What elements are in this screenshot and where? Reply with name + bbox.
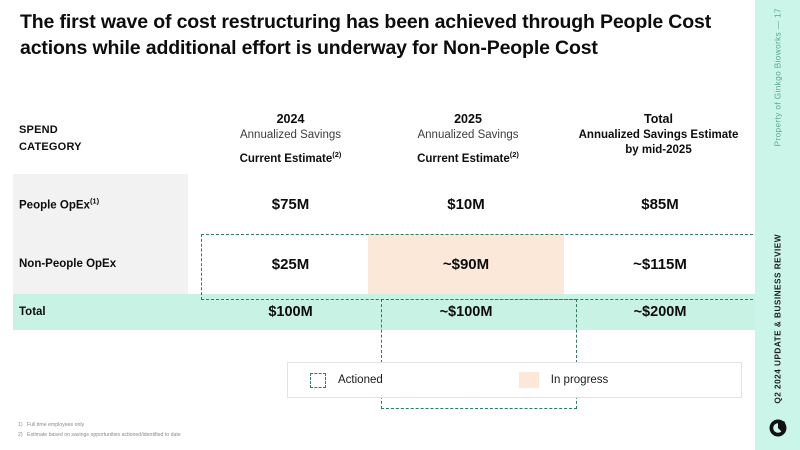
- footnote-marker-1: (1): [90, 197, 99, 206]
- cell-people-opex-2024: $75M: [188, 174, 393, 234]
- column-header-2025: 2025 Annualized Savings Current Estimate…: [368, 112, 568, 165]
- spend-category-line2: CATEGORY: [19, 139, 82, 156]
- savings-table: SPEND CATEGORY 2024 Annualized Savings C…: [13, 112, 744, 330]
- page-title: The first wave of cost restructuring has…: [20, 10, 720, 62]
- ginkgo-logo-icon: [768, 418, 788, 438]
- cell-total-total: ~$200M: [564, 294, 756, 330]
- footnote-marker-2: (2): [332, 150, 341, 159]
- cell-total-2025: ~$100M: [368, 294, 564, 330]
- column-header-2024-subtitle: Annualized Savings: [188, 129, 393, 141]
- column-header-total-estimate: by mid-2025: [561, 144, 756, 156]
- footnote-1: 1) Full time employees only: [18, 421, 181, 431]
- table-header-row: SPEND CATEGORY 2024 Annualized Savings C…: [13, 112, 744, 174]
- cell-non-people-opex-2025: ~$90M: [368, 234, 564, 294]
- row-category-label-non-people-opex: Non-People OpEx: [19, 258, 116, 270]
- table-row: Non-People OpEx $25M ~$90M ~$115M: [13, 234, 744, 294]
- table-row-total: Total $100M ~$100M ~$200M: [13, 294, 744, 330]
- footnote-2: 2) Estimate based on savings opportuniti…: [18, 431, 181, 441]
- right-sidebar: Property of Ginkgo Bioworks — 17 Q2 2024…: [755, 0, 800, 450]
- sidebar-property-text: Property of Ginkgo Bioworks — 17: [773, 8, 782, 146]
- table-body: People OpEx(1) $75M $10M $85M Non-People…: [13, 174, 744, 330]
- legend-item-in-progress: In progress: [519, 372, 609, 388]
- column-header-2025-subtitle: Annualized Savings: [368, 129, 568, 141]
- legend-label-in-progress: In progress: [551, 374, 609, 386]
- peach-swatch-icon: [519, 372, 539, 388]
- column-header-total-label: Total: [561, 112, 756, 126]
- footnote-1-text: Full time employees only: [27, 421, 84, 431]
- cell-non-people-opex-total: ~$115M: [564, 234, 756, 294]
- spend-category-header: SPEND CATEGORY: [19, 122, 82, 155]
- row-category-label-total: Total: [19, 306, 46, 318]
- column-header-total: Total Annualized Savings Estimate by mid…: [561, 112, 756, 156]
- cell-people-opex-2025: $10M: [368, 174, 564, 234]
- column-header-2024-estimate: Current Estimate(2): [188, 150, 393, 165]
- footnotes: 1) Full time employees only 2) Estimate …: [18, 421, 181, 440]
- footnote-2-text: Estimate based on savings opportunities …: [27, 431, 181, 441]
- row-category-label-people-opex: People OpEx(1): [19, 197, 99, 212]
- column-header-2024: 2024 Annualized Savings Current Estimate…: [188, 112, 393, 165]
- table-row: People OpEx(1) $75M $10M $85M: [13, 174, 744, 234]
- cell-non-people-opex-2024: $25M: [188, 234, 393, 294]
- legend-item-actioned: Actioned: [310, 373, 383, 388]
- footnote-marker-2b: (2): [510, 150, 519, 159]
- slide-root: The first wave of cost restructuring has…: [0, 0, 800, 450]
- dashed-swatch-icon: [310, 373, 326, 388]
- legend: Actioned In progress: [287, 362, 742, 398]
- column-header-2024-year: 2024: [188, 112, 393, 126]
- cell-total-2024: $100M: [188, 294, 393, 330]
- footnote-1-number: 1): [18, 421, 27, 431]
- footnote-2-number: 2): [18, 431, 27, 441]
- column-header-total-subtitle: Annualized Savings Estimate: [561, 129, 756, 141]
- column-header-2025-estimate: Current Estimate(2): [368, 150, 568, 165]
- spend-category-line1: SPEND: [19, 122, 82, 139]
- column-header-2025-year: 2025: [368, 112, 568, 126]
- sidebar-deck-title: Q2 2024 UPDATE & BUSINESS REVIEW: [773, 234, 782, 404]
- cell-people-opex-total: $85M: [564, 174, 756, 234]
- legend-label-actioned: Actioned: [338, 374, 383, 386]
